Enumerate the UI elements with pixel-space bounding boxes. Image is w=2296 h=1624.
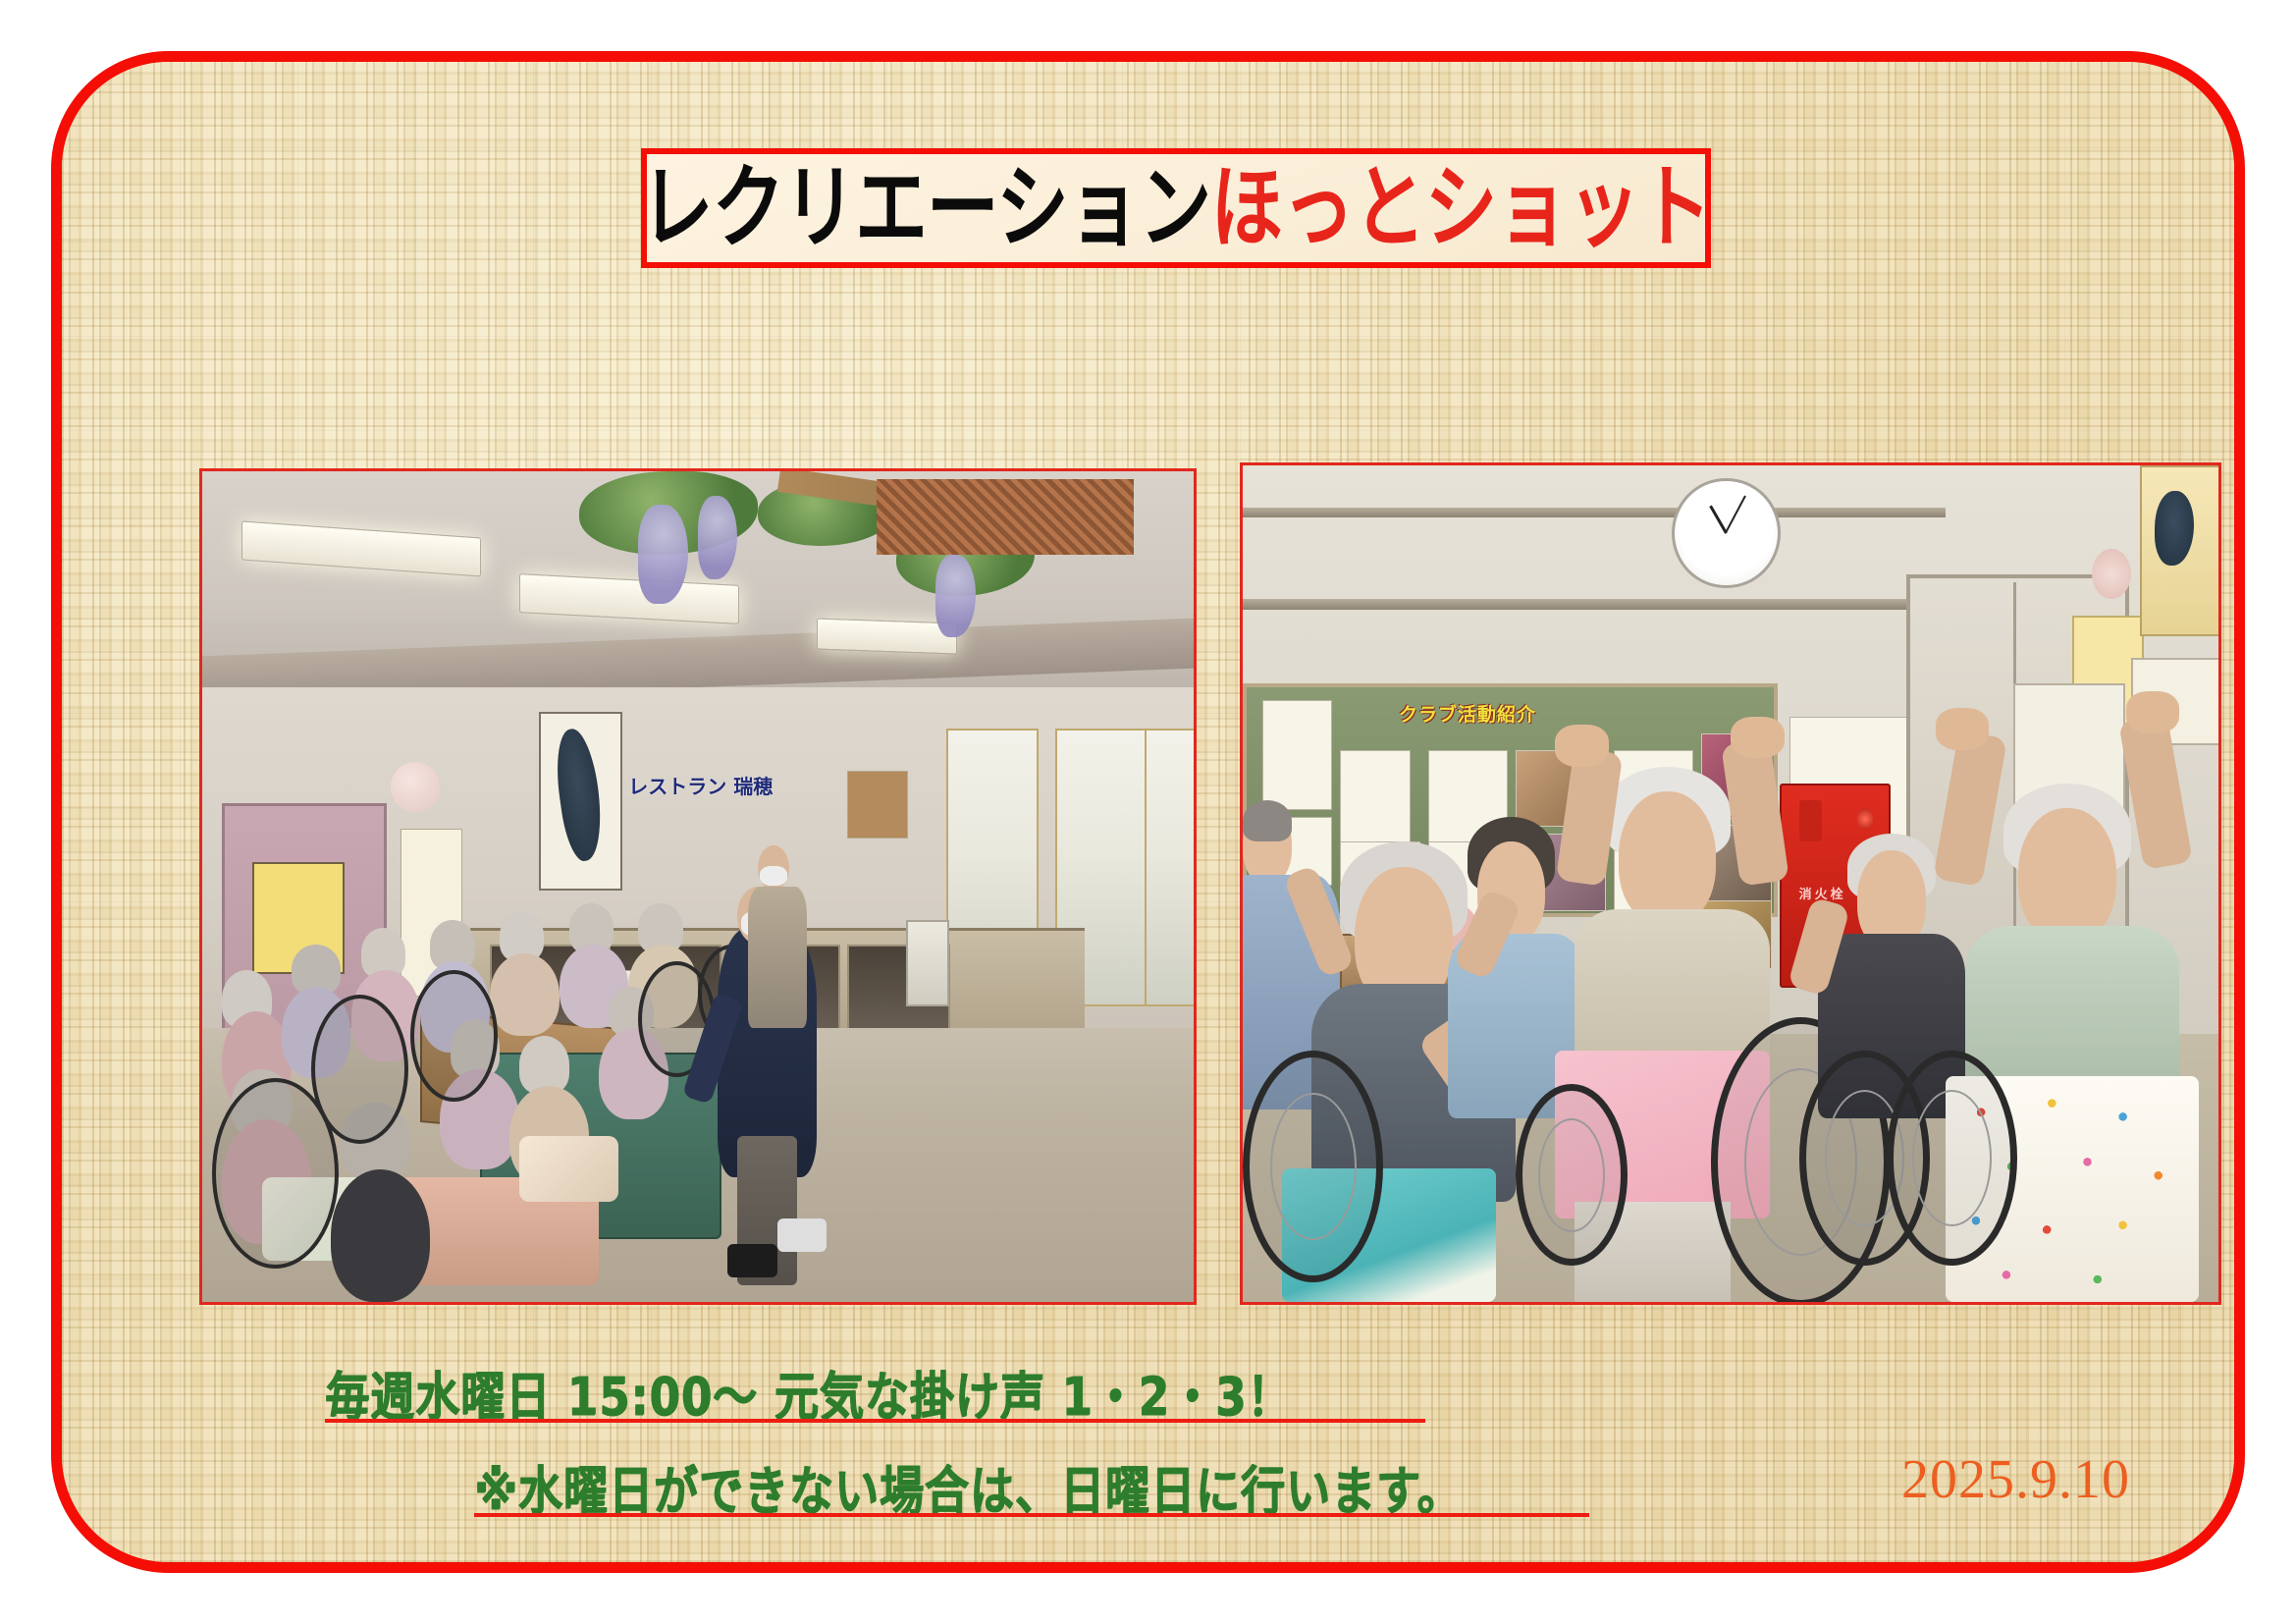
resident [331,1169,430,1302]
board-title-text: クラブ活動紹介 [1399,700,1536,727]
staff-member [748,887,808,1028]
left-photo-scene: レストラン 瑞穂 [202,471,1194,1302]
vending-unit [906,920,949,1007]
staff-shoe [727,1244,777,1277]
wheelchair [311,995,408,1144]
residents-raising-hands-photo: クラブ活動紹介 消火栓 [1240,462,2221,1305]
resident-hair [1243,800,1292,842]
schedule-caption-underline [325,1419,1425,1423]
restaurant-sign-text: レストラン 瑞穂 [628,771,773,799]
wall-rail [1243,508,1946,517]
resident-hand [2126,691,2180,733]
lap-blanket [519,1136,618,1203]
resident-hand [1555,725,1609,767]
wall-rail [1243,599,1946,609]
page-title: レクリエーションほっとショット [641,163,1711,254]
date-stamp: 2025.9.10 [1901,1448,2130,1511]
resident-head [2018,808,2115,942]
title-segment-red: ほっとショット [1211,154,1711,261]
lattice-decor [877,479,1135,554]
group-recreation-photo: レストラン 瑞穂 [199,468,1197,1305]
ceiling-light [817,619,957,655]
resident-hand [1731,717,1785,759]
wheelchair-wheel [1516,1084,1627,1265]
right-photo-scene: クラブ活動紹介 消火栓 [1243,465,2218,1302]
poster-frame: レクリエーションほっとショット レストラン 瑞穂 [51,51,2245,1573]
hydrant-panel [1799,800,1823,842]
title-banner: レクリエーションほっとショット [641,148,1711,268]
staff-shoe [777,1218,828,1252]
window [1145,729,1198,1006]
board-notice [1262,700,1333,811]
wall-poster [847,771,909,839]
wheelchair-wheel [1243,1051,1383,1282]
board-notice [1340,750,1411,844]
resident-hand [1936,708,1990,750]
wall-balloon [2092,549,2131,599]
title-segment-black: レクリエーション [641,154,1211,261]
note-caption-underline [474,1513,1589,1517]
wall-balloon [391,762,441,812]
wall-clock [1672,478,1780,589]
face-mask [760,866,787,886]
wheelchair-wheel [1887,1051,2017,1265]
resident [490,953,560,1037]
wheelchair [410,970,498,1103]
resident-head [1619,791,1716,925]
clock-minute-hand [1726,496,1747,534]
